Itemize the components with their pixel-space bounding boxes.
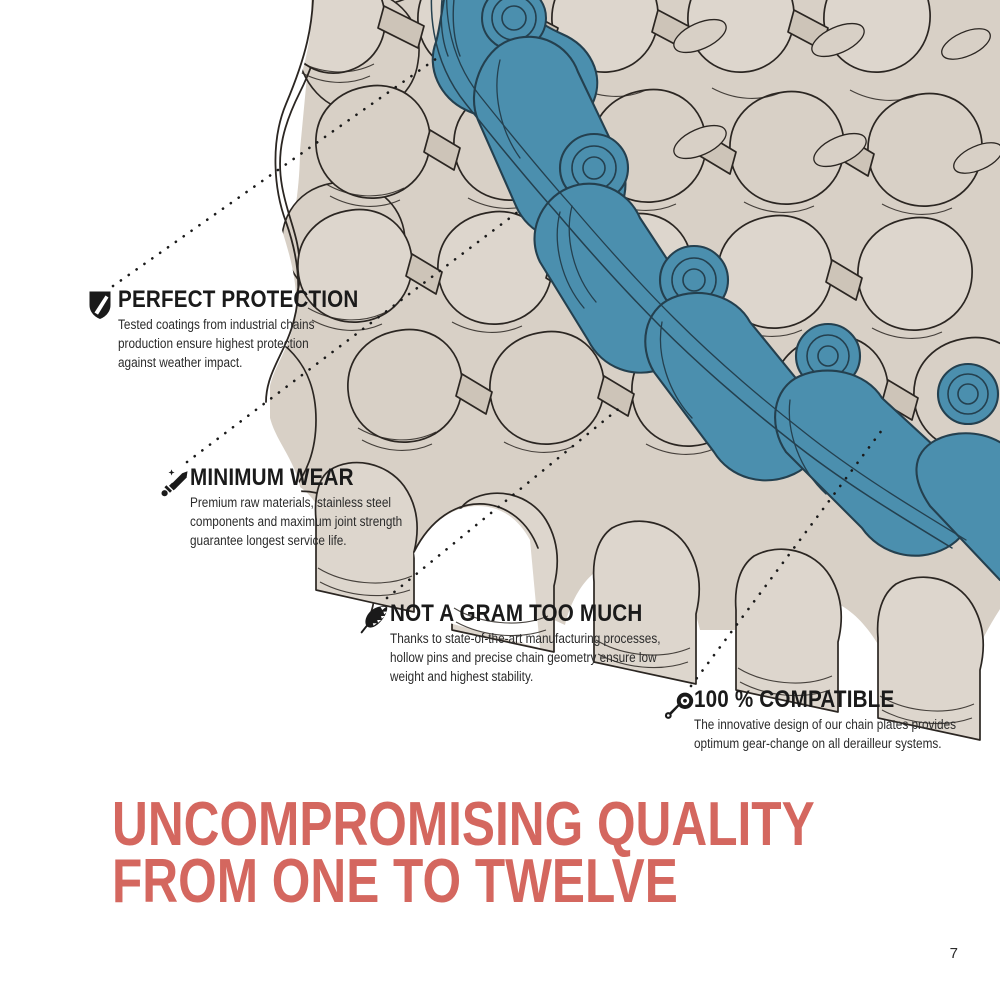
chain-roller-3 bbox=[660, 246, 728, 314]
callout-100-percent-compatible: 100 % COMPATIBLE The innovative design o… bbox=[664, 688, 994, 753]
chain-outer-contour bbox=[431, 0, 952, 548]
callout-perfect-protection: PERFECT PROTECTION Tested coatings from … bbox=[88, 288, 418, 372]
callout-body: Tested coatings from industrial chains p… bbox=[118, 315, 382, 372]
feather-icon bbox=[360, 604, 390, 638]
chain-link-2 bbox=[474, 37, 625, 241]
callout-text-block: NOT A GRAM TOO MUCH Thanks to state-of-t… bbox=[390, 602, 720, 686]
tooth-connectors-row-3 bbox=[406, 254, 862, 300]
tooth-connectors-row-1 bbox=[378, 6, 828, 50]
sprocket-hole-details bbox=[531, 13, 1000, 180]
shield-icon bbox=[88, 290, 118, 324]
chain-roller-2 bbox=[560, 134, 628, 202]
callout-title: PERFECT PROTECTION bbox=[118, 288, 376, 312]
callout-title: NOT A GRAM TOO MUCH bbox=[390, 602, 674, 626]
chain-link-5 bbox=[775, 371, 973, 556]
dagger-icon bbox=[160, 468, 190, 502]
tooth-row-2 bbox=[316, 86, 982, 207]
chain-link-1 bbox=[433, 0, 597, 132]
bicycle-chain bbox=[431, 0, 1000, 580]
chain-link-4 bbox=[645, 293, 823, 480]
callout-title: 100 % COMPATIBLE bbox=[694, 688, 952, 712]
sprocket-teeth-left bbox=[282, 0, 448, 304]
leader-line-protection bbox=[113, 56, 440, 286]
callout-text-block: 100 % COMPATIBLE The innovative design o… bbox=[694, 688, 994, 753]
sprocket-shoulder-lines bbox=[166, 20, 246, 256]
page-canvas: PERFECT PROTECTION Tested coatings from … bbox=[0, 0, 1000, 1000]
tooth-row-4 bbox=[348, 330, 1000, 451]
callout-minimum-wear: MINIMUM WEAR Premium raw materials, stai… bbox=[160, 466, 490, 550]
chain-roller-5 bbox=[938, 364, 998, 424]
chain-roller-4 bbox=[796, 324, 860, 388]
callout-text-block: MINIMUM WEAR Premium raw materials, stai… bbox=[190, 466, 490, 550]
sprocket-shoulder-details bbox=[158, 10, 254, 268]
artwork-lower-left-mask bbox=[0, 0, 336, 790]
callout-title: MINIMUM WEAR bbox=[190, 466, 448, 490]
chain-plate-icon bbox=[664, 690, 694, 724]
chain-link-6 bbox=[916, 433, 1000, 580]
cassette-silhouette bbox=[268, 0, 322, 334]
chain-outer-contour-2 bbox=[447, 0, 966, 540]
tooth-connectors-row-2 bbox=[424, 130, 874, 176]
callout-body: Thanks to state-of-the-art manufacturing… bbox=[390, 629, 680, 686]
callout-body: The innovative design of our chain plate… bbox=[694, 715, 958, 753]
callout-not-a-gram-too-much: NOT A GRAM TOO MUCH Thanks to state-of-t… bbox=[360, 602, 720, 686]
chain-link-3 bbox=[535, 184, 698, 373]
tooth-row-1 bbox=[283, 0, 930, 73]
page-headline: UNCOMPROMISING QUALITY FROM ONE TO TWELV… bbox=[112, 796, 815, 910]
callout-text-block: PERFECT PROTECTION Tested coatings from … bbox=[118, 288, 418, 372]
page-number: 7 bbox=[950, 945, 958, 962]
callout-body: Premium raw materials, stainless steel c… bbox=[190, 493, 454, 550]
tooth-connectors-row-4 bbox=[456, 374, 918, 420]
